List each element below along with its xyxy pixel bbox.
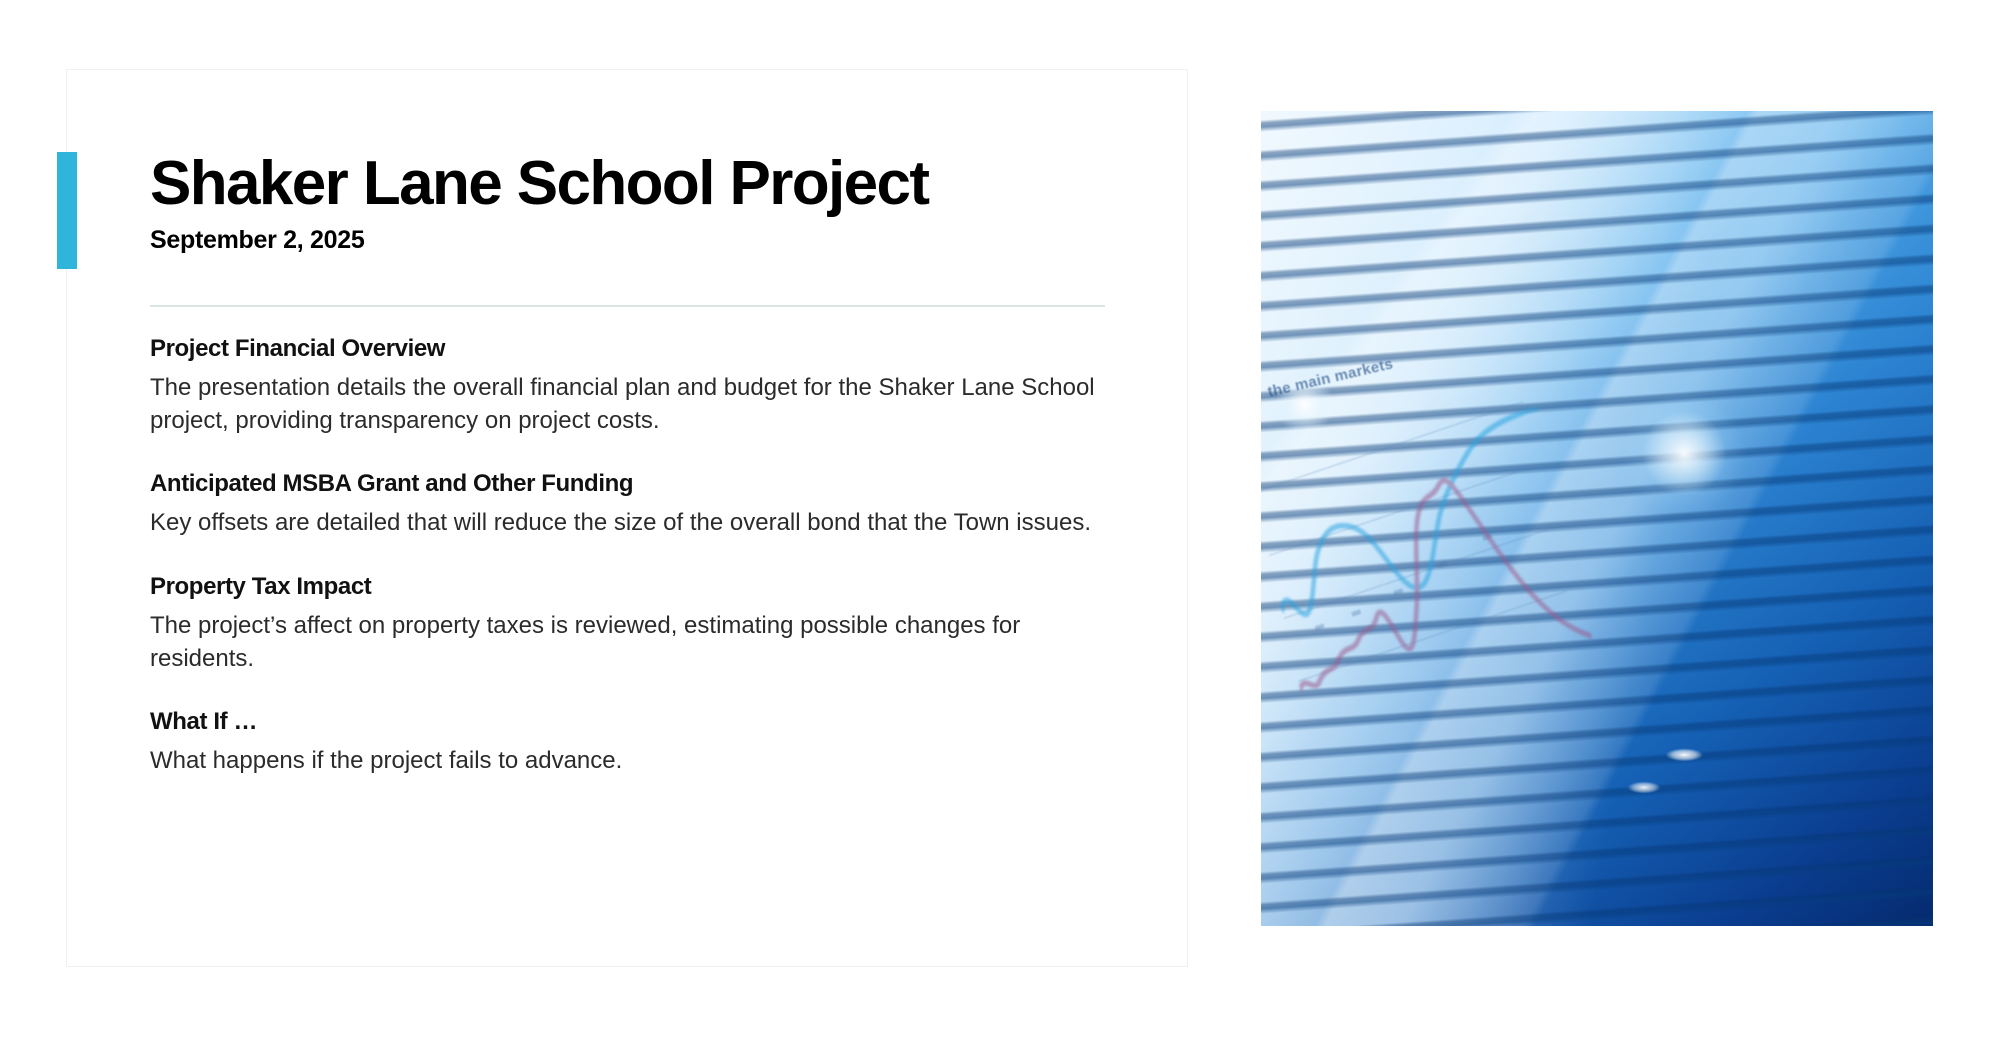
section-item: Anticipated MSBA Grant and Other Funding… bbox=[150, 470, 1105, 540]
page-title: Shaker Lane School Project bbox=[150, 152, 1090, 216]
title-block: Shaker Lane School Project September 2, … bbox=[150, 152, 1090, 255]
section-item: Project Financial Overview The presentat… bbox=[150, 335, 1105, 437]
slide-date: September 2, 2025 bbox=[150, 226, 1090, 255]
section-item: What If … What happens if the project fa… bbox=[150, 708, 1105, 778]
section-body: The project’s affect on property taxes i… bbox=[150, 610, 1095, 675]
section-body: What happens if the project fails to adv… bbox=[150, 745, 1095, 778]
slide-image: the main markets bbox=[1261, 111, 1933, 926]
slide-root: Shaker Lane School Project September 2, … bbox=[0, 0, 2000, 1043]
title-accent-bar bbox=[57, 152, 77, 269]
section-heading: Anticipated MSBA Grant and Other Funding bbox=[150, 470, 1105, 498]
section-heading: What If … bbox=[150, 708, 1105, 736]
section-body: The presentation details the overall fin… bbox=[150, 372, 1095, 437]
header-divider bbox=[150, 305, 1105, 307]
section-heading: Project Financial Overview bbox=[150, 335, 1105, 363]
section-item: Property Tax Impact The project’s affect… bbox=[150, 573, 1105, 675]
section-body: Key offsets are detailed that will reduc… bbox=[150, 507, 1095, 540]
section-list: Project Financial Overview The presentat… bbox=[150, 335, 1105, 778]
section-heading: Property Tax Impact bbox=[150, 573, 1105, 601]
